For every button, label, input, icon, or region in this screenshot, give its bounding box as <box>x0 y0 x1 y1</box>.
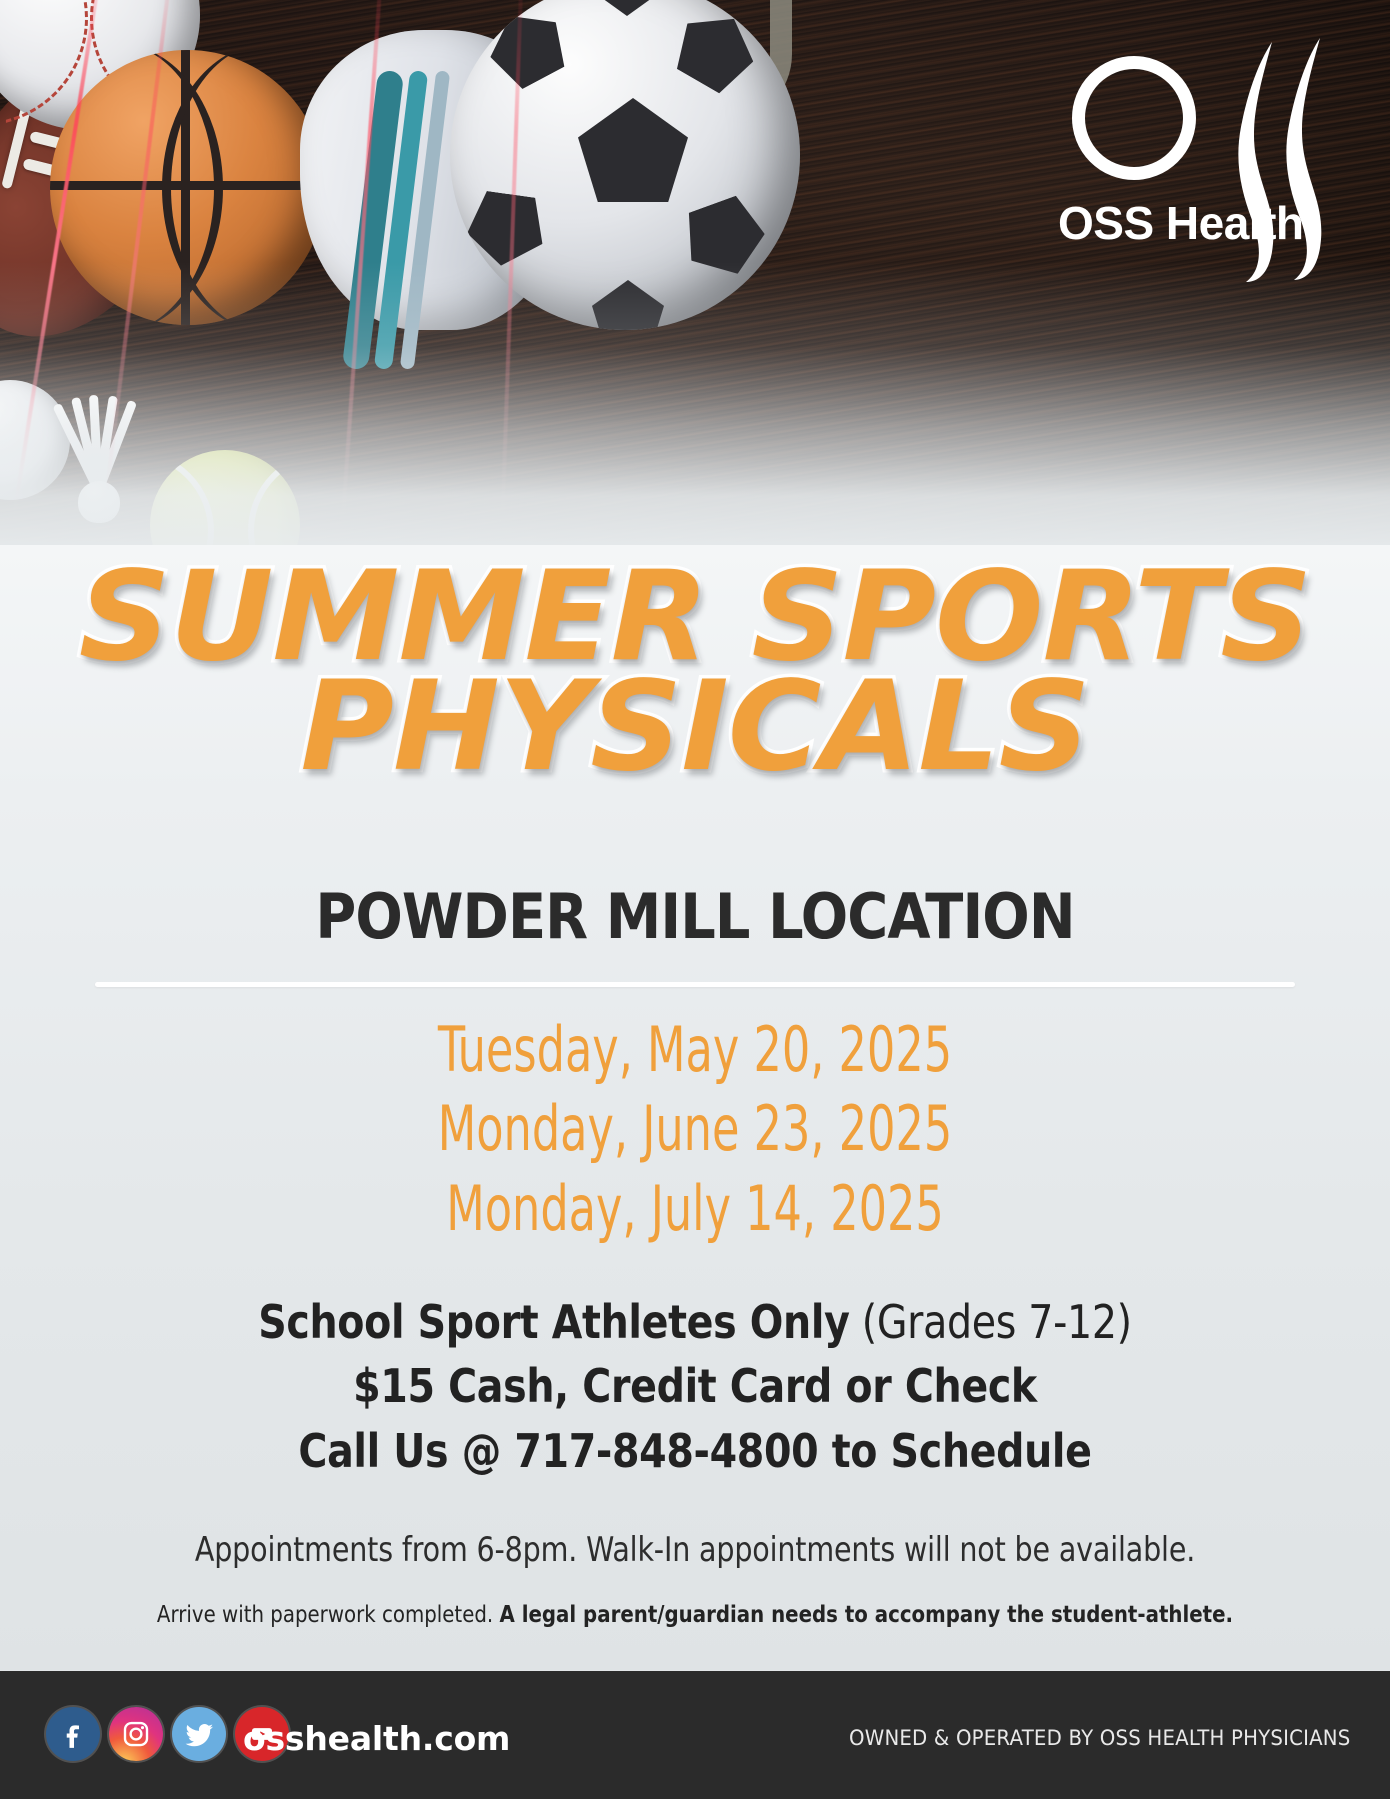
owned-operated-text: OWNED & OPERATED BY OSS HEALTH PHYSICIAN… <box>849 1726 1350 1750</box>
eligibility-grades: (Grades 7-12) <box>850 1295 1132 1349</box>
price-line: $15 Cash, Credit Card or Check <box>97 1354 1292 1418</box>
eligibility-bold: School Sport Athletes Only <box>258 1295 849 1349</box>
footer-bar: osshealth.com OWNED & OPERATED BY OSS HE… <box>0 1671 1390 1799</box>
twitter-icon[interactable] <box>172 1707 226 1761</box>
fineprint-bold: A legal parent/guardian needs to accompa… <box>499 1602 1233 1628</box>
date-item: Tuesday, May 20, 2025 <box>139 1010 1251 1089</box>
flyer-page: OSS Health SUMMER SPORTS PHYSICALS POWDE… <box>0 0 1390 1799</box>
hero-fade-overlay <box>0 262 1390 560</box>
dates-list: Tuesday, May 20, 2025 Monday, June 23, 2… <box>0 1010 1390 1248</box>
location-heading: POWDER MILL LOCATION <box>70 880 1321 953</box>
eligibility-line: School Sport Athletes Only (Grades 7-12) <box>97 1290 1292 1354</box>
instagram-icon[interactable] <box>109 1707 163 1761</box>
appointments-note: Appointments from 6-8pm. Walk-In appoint… <box>111 1530 1279 1570</box>
logo-ring-icon <box>1072 56 1196 180</box>
date-item: Monday, June 23, 2025 <box>139 1089 1251 1168</box>
website-link[interactable]: osshealth.com <box>243 1719 510 1758</box>
fineprint-regular: Arrive with paperwork completed. <box>157 1602 500 1628</box>
divider-rule <box>95 982 1295 987</box>
title-line-2: PHYSICALS <box>0 672 1390 782</box>
date-item: Monday, July 14, 2025 <box>139 1169 1251 1248</box>
main-title: SUMMER SPORTS PHYSICALS <box>0 562 1390 783</box>
facebook-icon[interactable] <box>46 1707 100 1761</box>
price-text: $15 Cash, Credit Card or Check <box>353 1359 1037 1413</box>
fineprint-line: Arrive with paperwork completed. A legal… <box>97 1602 1292 1628</box>
phone-line: Call Us @ 717-848-4800 to Schedule <box>97 1419 1292 1483</box>
info-block: School Sport Athletes Only (Grades 7-12)… <box>0 1290 1390 1483</box>
logo-wordmark: OSS Health <box>1058 196 1304 250</box>
oss-health-logo: OSS Health <box>1058 56 1358 271</box>
hero-banner: OSS Health <box>0 0 1390 560</box>
phone-text: Call Us @ 717-848-4800 to Schedule <box>298 1424 1091 1478</box>
